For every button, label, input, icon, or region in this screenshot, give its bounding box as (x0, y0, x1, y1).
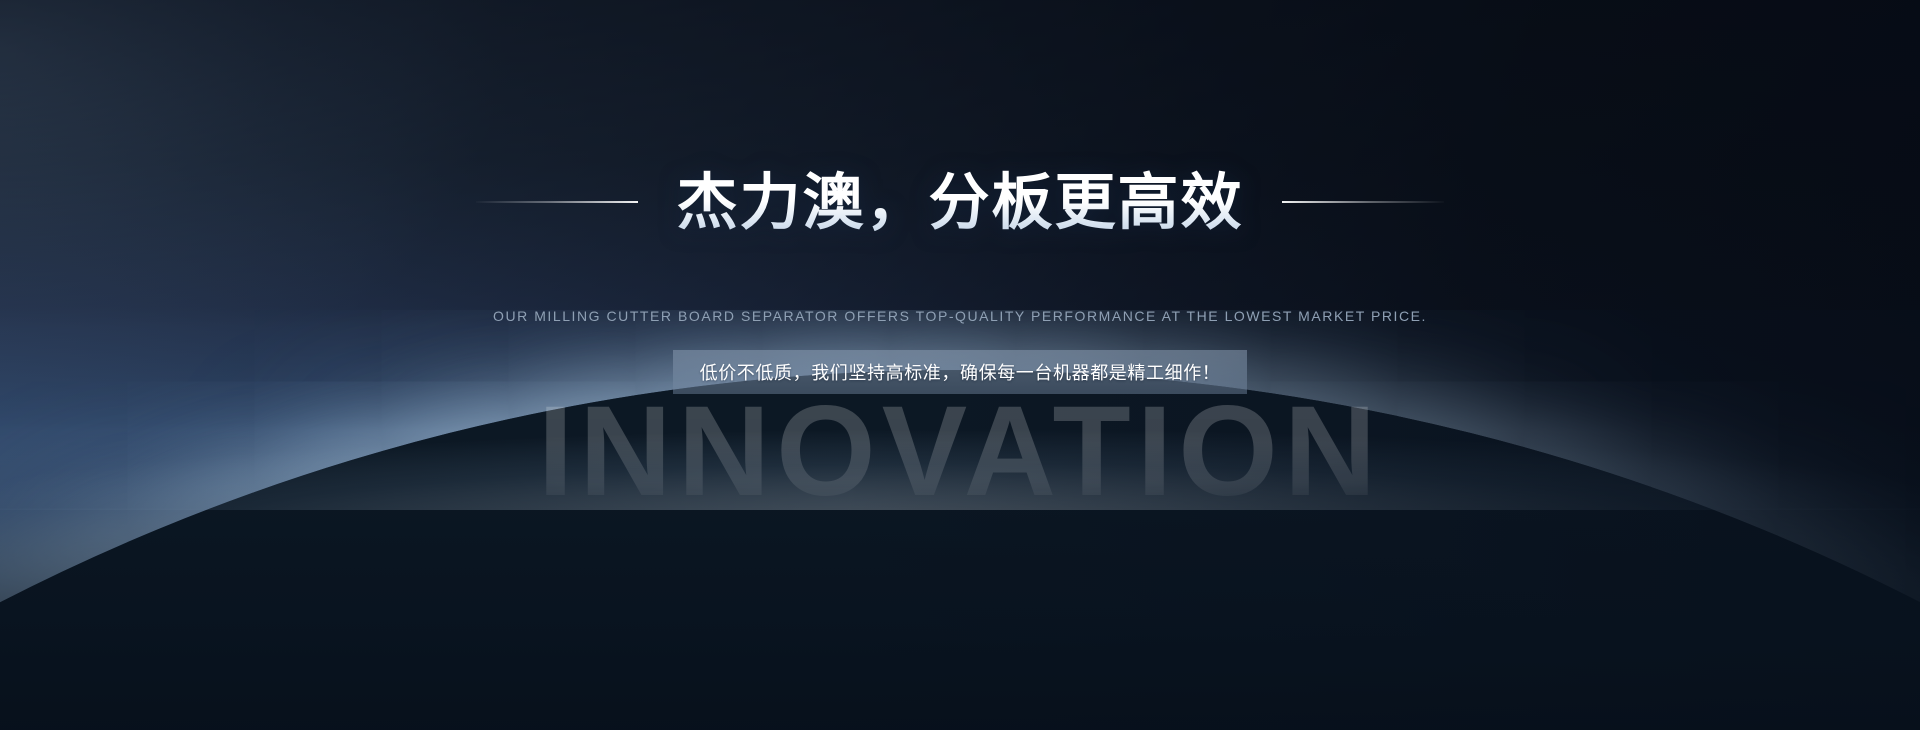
headline-row: 杰力澳，分板更高效 (0, 128, 1920, 277)
banner-subtitle: OUR MILLING CUTTER BOARD SEPARATOR OFFER… (0, 308, 1920, 324)
headline-rule-left-icon (476, 201, 638, 203)
city-lights-layer-b (0, 370, 1920, 730)
page-title: 杰力澳，分板更高效 (676, 169, 1243, 236)
hero-banner: INNOVATION 杰力澳，分板更高效 OUR MILLING CUTTER … (0, 0, 1920, 730)
banner-content: 杰力澳，分板更高效 OUR MILLING CUTTER BOARD SEPAR… (0, 0, 1920, 394)
tagline-text: 低价不低质，我们坚持高标准，确保每一台机器都是精工细作！ (700, 359, 1221, 385)
tagline-bar: 低价不低质，我们坚持高标准，确保每一台机器都是精工细作！ (673, 350, 1247, 394)
headline-rule-right-icon (1282, 201, 1444, 203)
